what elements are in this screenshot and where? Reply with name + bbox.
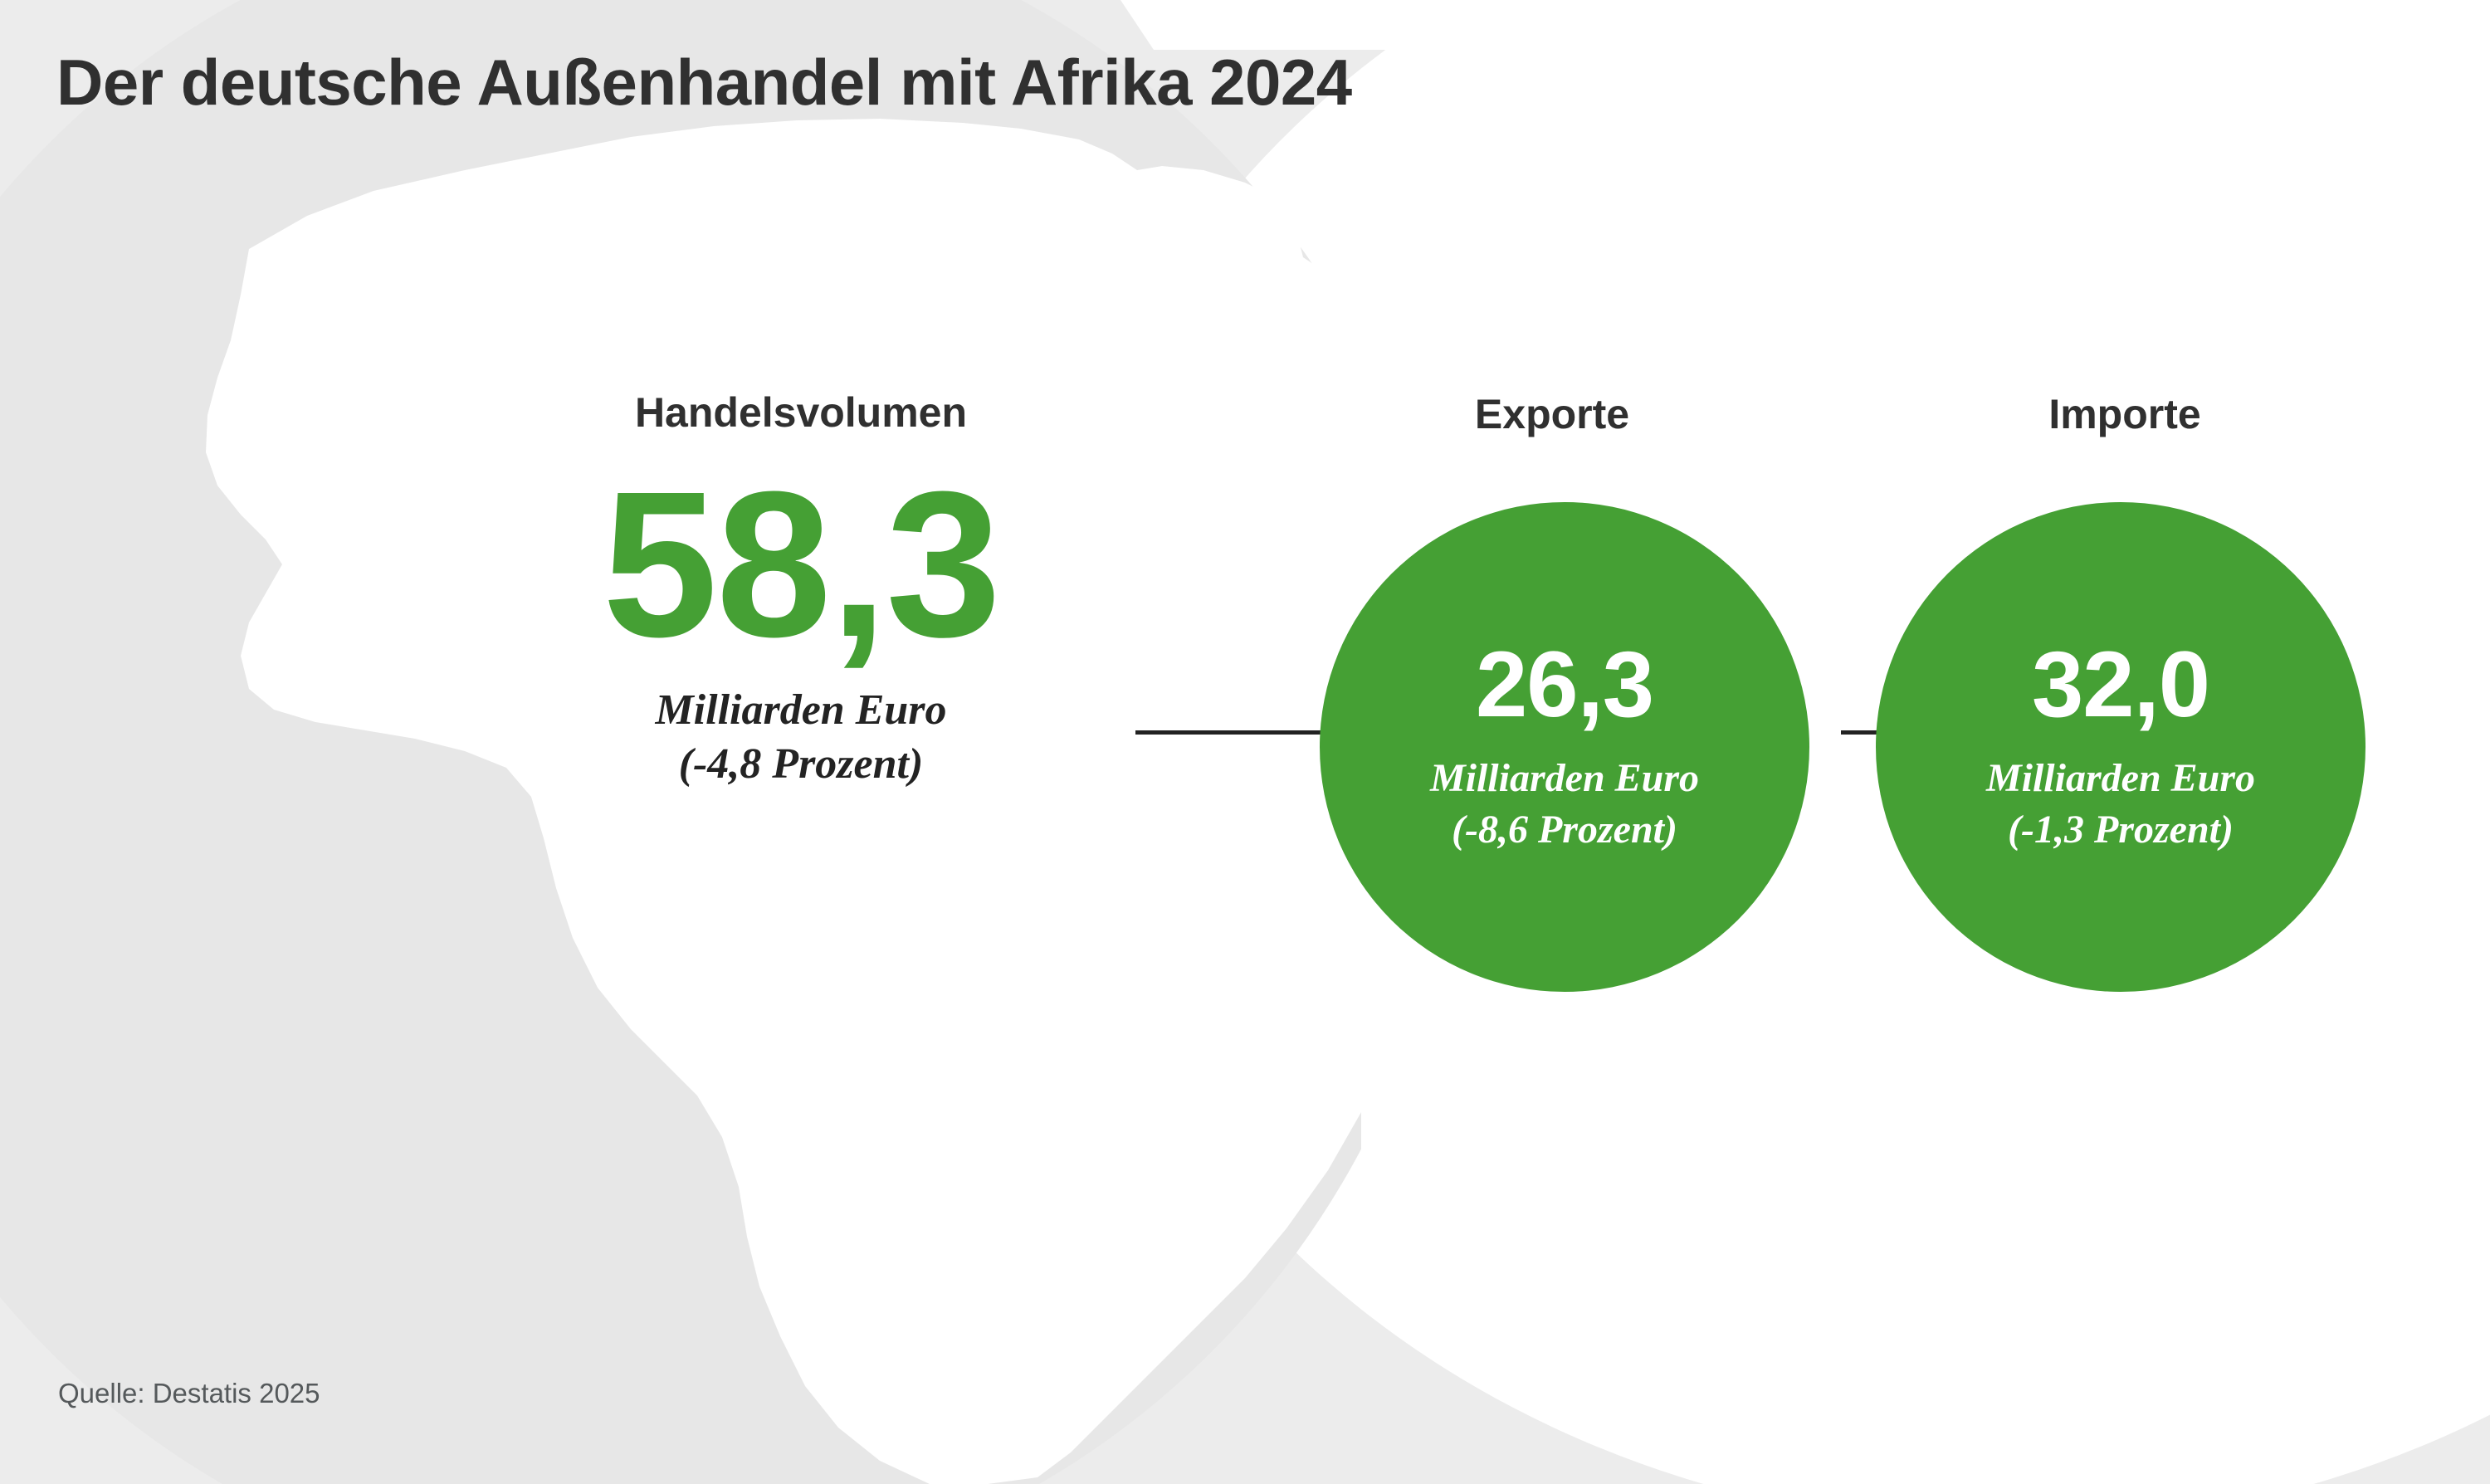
- metric-exporte: Exporte 26,3 Milliarden Euro (-8,6 Proze…: [1278, 390, 1826, 1021]
- metric-handelsvolumen-change: (-4,8 Prozent): [515, 737, 1087, 791]
- metric-handelsvolumen: Handelsvolumen 58,3 Milliarden Euro (-4,…: [515, 390, 1087, 791]
- metric-importe-circle: 32,0 Milliarden Euro (-1,3 Prozent): [1876, 502, 2365, 992]
- metric-importe-change: (-1,3 Prozent): [2008, 804, 2234, 856]
- page-title: Der deutsche Außenhandel mit Afrika 2024: [56, 45, 1352, 120]
- source-attribution: Quelle: Destatis 2025: [58, 1378, 320, 1409]
- metric-handelsvolumen-label: Handelsvolumen: [515, 390, 1087, 436]
- metric-exporte-value: 26,3: [1476, 638, 1653, 731]
- metric-importe-value: 32,0: [2032, 638, 2209, 731]
- metric-handelsvolumen-unit: Milliarden Euro: [515, 683, 1087, 737]
- metric-importe: Importe 32,0 Milliarden Euro (-1,3 Proze…: [1851, 390, 2399, 1021]
- metric-exporte-label: Exporte: [1278, 390, 1826, 438]
- metric-handelsvolumen-value: 58,3: [515, 461, 1087, 668]
- metric-importe-label: Importe: [1851, 390, 2399, 438]
- metric-importe-unit: Milliarden Euro: [1986, 753, 2255, 804]
- metric-exporte-unit: Milliarden Euro: [1430, 753, 1699, 804]
- metric-exporte-circle: 26,3 Milliarden Euro (-8,6 Prozent): [1320, 502, 1809, 992]
- metric-exporte-change: (-8,6 Prozent): [1452, 804, 1677, 856]
- infographic-canvas: Der deutsche Außenhandel mit Afrika 2024…: [0, 0, 2490, 1484]
